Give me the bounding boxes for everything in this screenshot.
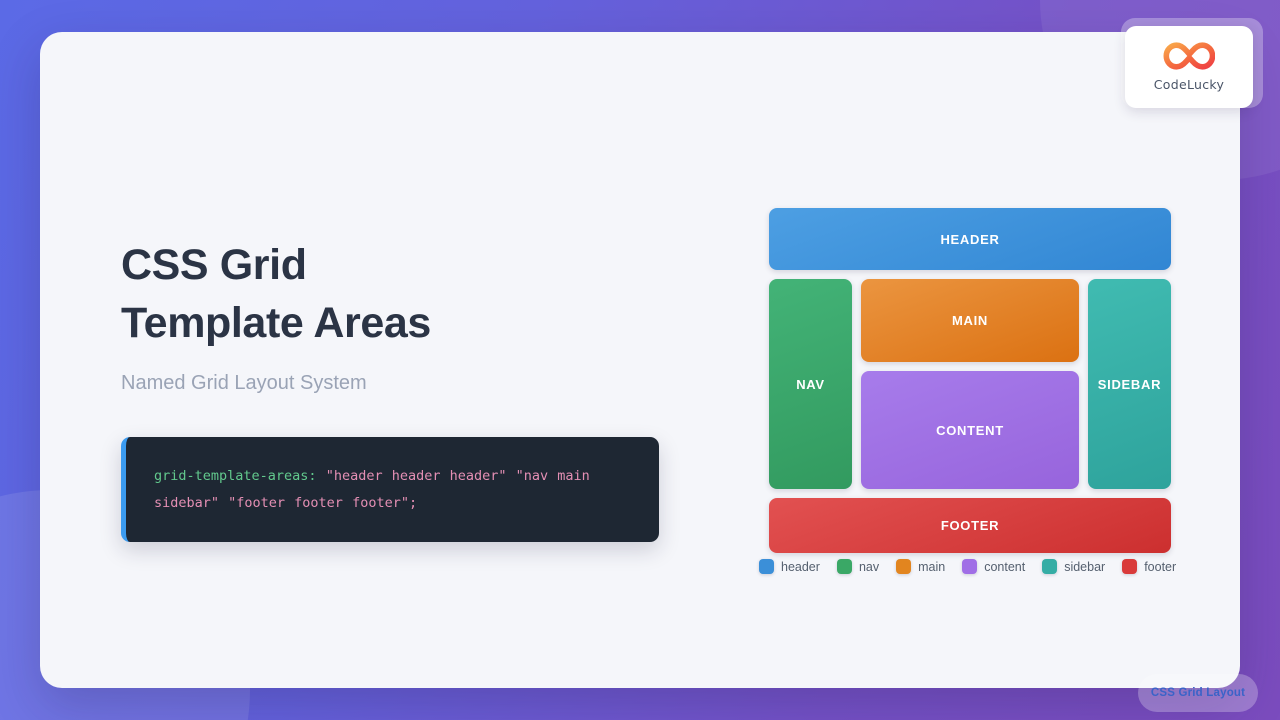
grid-area-footer[interactable]: FOOTER [769, 498, 1171, 553]
legend-label: sidebar [1064, 560, 1105, 574]
legend-item: sidebar [1042, 559, 1105, 574]
legend-swatch-sidebar [1042, 559, 1057, 574]
grid-area-main-label: MAIN [952, 313, 988, 328]
legend-swatch-nav [837, 559, 852, 574]
grid-layout-diagram: HEADER NAV MAIN CONTENT SIDEBAR [769, 208, 1171, 553]
hero-section: CSS Grid Template Areas Named Grid Layou… [121, 237, 681, 542]
code-snippet-line: grid-template-areas: "header header head… [154, 463, 631, 516]
page-title-line-2: Template Areas [121, 295, 681, 353]
grid-area-footer-label: FOOTER [941, 518, 999, 533]
grid-area-header-label: HEADER [940, 232, 999, 247]
code-snippet-block: grid-template-areas: "header header head… [121, 437, 659, 542]
grid-area-content-label: CONTENT [936, 423, 1004, 438]
content-card: CSS Grid Template Areas Named Grid Layou… [40, 32, 1240, 688]
legend-label: content [984, 560, 1025, 574]
grid-area-content[interactable]: CONTENT [861, 371, 1079, 489]
page-title: CSS Grid Template Areas [121, 237, 681, 352]
grid-area-header[interactable]: HEADER [769, 208, 1171, 270]
legend-swatch-content [962, 559, 977, 574]
grid-center-column: MAIN CONTENT [861, 279, 1079, 489]
legend-item: main [896, 559, 945, 574]
slide-canvas: CSS Grid Template Areas Named Grid Layou… [0, 0, 1280, 720]
brand-badge-inner: CodeLucky [1125, 26, 1253, 108]
grid-middle-row: NAV MAIN CONTENT SIDEBAR [769, 279, 1171, 489]
grid-area-nav[interactable]: NAV [769, 279, 852, 489]
legend-label: header [781, 560, 820, 574]
legend-label: footer [1144, 560, 1176, 574]
topic-pill[interactable]: CSS Grid Layout [1138, 674, 1258, 712]
legend-label: main [918, 560, 945, 574]
grid-area-nav-label: NAV [796, 377, 825, 392]
brand-badge: CodeLucky [1121, 18, 1263, 108]
legend-swatch-footer [1122, 559, 1137, 574]
grid-area-sidebar-label: SIDEBAR [1098, 377, 1161, 392]
code-token-property: grid-template-areas: [154, 468, 317, 484]
brand-name: CodeLucky [1154, 77, 1224, 92]
legend-swatch-header [759, 559, 774, 574]
page-subtitle: Named Grid Layout System [121, 372, 681, 395]
legend-item: header [759, 559, 820, 574]
topic-pill-label: CSS Grid Layout [1151, 687, 1245, 699]
grid-area-main[interactable]: MAIN [861, 279, 1079, 362]
legend-item: nav [837, 559, 879, 574]
legend-item: content [962, 559, 1025, 574]
page-title-line-1: CSS Grid [121, 237, 681, 295]
legend-swatch-main [896, 559, 911, 574]
grid-area-sidebar[interactable]: SIDEBAR [1088, 279, 1171, 489]
diagram-legend: headernavmaincontentsidebarfooter [759, 559, 1176, 574]
legend-label: nav [859, 560, 879, 574]
infinity-loop-icon [1163, 42, 1215, 75]
legend-item: footer [1122, 559, 1176, 574]
